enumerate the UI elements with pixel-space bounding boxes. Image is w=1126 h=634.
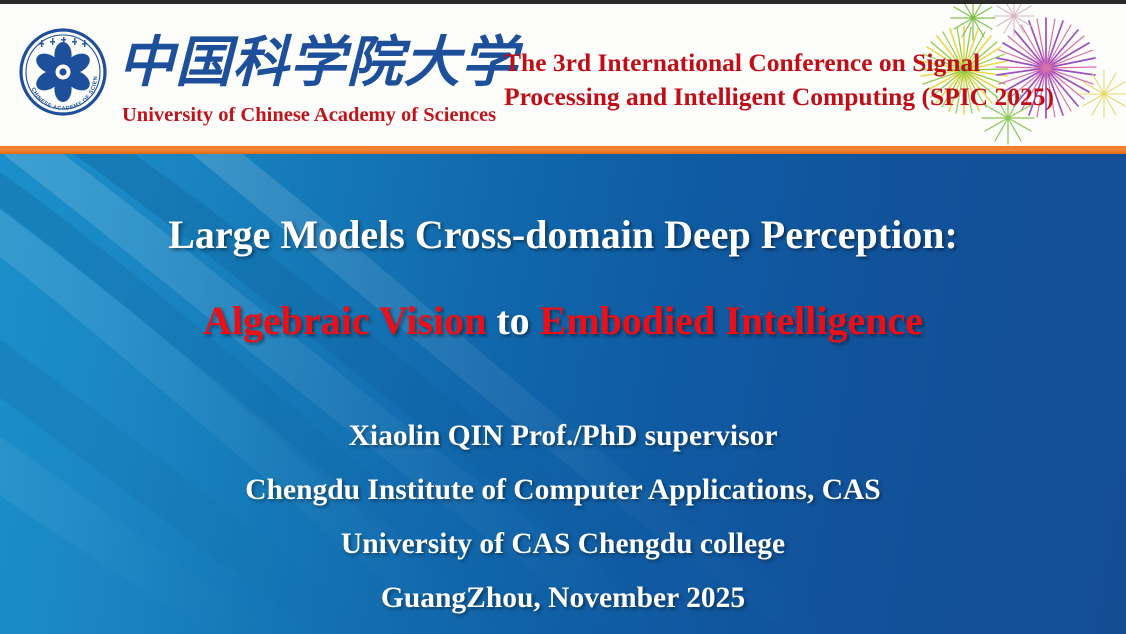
affiliation-college-line: University of CAS Chengdu college [0,517,1126,571]
ucas-emblem-icon: CHINESE ACADEMY OF SCIENCES [17,26,109,118]
cn-university-wordmark: 中国科学院大学 [118,28,497,96]
en-university-wordmark: University of Chinese Academy of Science… [122,103,502,127]
conference-title: The 3rd International Conference on Sign… [504,46,1104,114]
affiliation-institute-line: Chengdu Institute of Computer Applicatio… [0,463,1126,517]
conference-title-line1: The 3rd International Conference on Sign… [504,48,980,77]
venue-date-line: GuangZhou, November 2025 [0,571,1126,625]
slide-title-line1: Large Models Cross-domain Deep Perceptio… [0,210,1126,260]
top-edge-strip [0,0,1126,4]
slide-body: Large Models Cross-domain Deep Perceptio… [0,154,1126,634]
slide-title-part-embodied-intelligence: Embodied Intelligence [540,298,923,343]
slide-title-line2: Algebraic Vision to Embodied Intelligenc… [0,296,1126,346]
slide-title-part-algebraic-vision: Algebraic Vision [203,298,486,343]
slide-title-connector: to [496,298,529,343]
title-space-2 [530,298,540,343]
presentation-slide: CHINESE ACADEMY OF SCIENCES 中国科学院大学 Univ… [0,0,1126,634]
orange-divider-bar [0,146,1126,154]
slide-title-part-to [486,298,496,343]
author-name-line: Xiaolin QIN Prof./PhD supervisor [0,409,1126,463]
author-affiliation-block: Xiaolin QIN Prof./PhD supervisor Chengdu… [0,409,1126,625]
slide-content: Large Models Cross-domain Deep Perceptio… [0,154,1126,634]
slide-header-band: CHINESE ACADEMY OF SCIENCES 中国科学院大学 Univ… [0,4,1126,147]
conference-title-line2: Processing and Intelligent Computing (SP… [504,80,1104,114]
